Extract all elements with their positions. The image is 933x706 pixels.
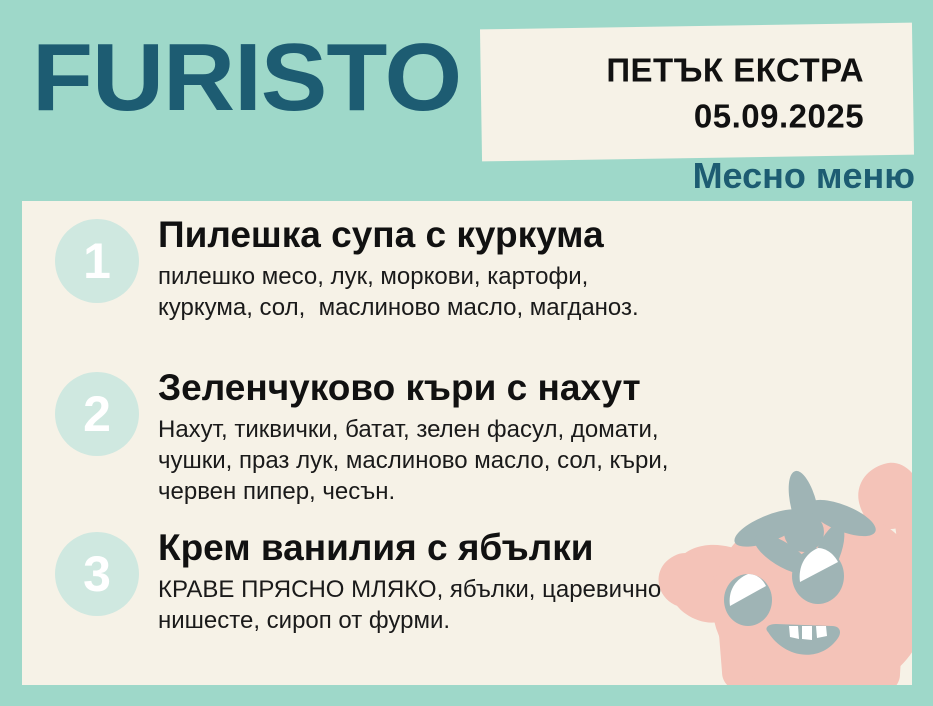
poster-header: FURISTO ПЕТЪК ЕКСТРА 05.09.2025 Месно ме… <box>0 0 933 200</box>
menu-item-number-badge: 3 <box>55 532 139 616</box>
date-badge-line-2: 05.09.2025 <box>607 93 865 139</box>
menu-item-body: Зеленчуково къри с нахут Нахут, тиквички… <box>158 366 898 507</box>
date-badge-text: ПЕТЪК ЕКСТРА 05.09.2025 <box>607 47 865 139</box>
menu-item-number-badge: 1 <box>55 219 139 303</box>
menu-item-description: Нахут, тиквички, батат, зелен фасул, дом… <box>158 414 898 507</box>
menu-poster: FURISTO ПЕТЪК ЕКСТРА 05.09.2025 Месно ме… <box>0 0 933 706</box>
menu-item-title: Зеленчуково къри с нахут <box>158 366 898 410</box>
menu-item-title: Крем ванилия с ябълки <box>158 526 898 570</box>
brand-logo: FURISTO <box>32 30 461 126</box>
menu-kind-label: Месно меню <box>693 156 915 196</box>
menu-item-number-badge: 2 <box>55 372 139 456</box>
menu-item-description: пилешко месо, лук, моркови, картофи, кур… <box>158 261 898 323</box>
menu-item-title: Пилешка супа с куркума <box>158 213 898 257</box>
date-badge-box: ПЕТЪК ЕКСТРА 05.09.2025 <box>480 23 914 162</box>
menu-card: 1 Пилешка супа с куркума пилешко месо, л… <box>22 201 912 685</box>
menu-item-description: КРАВЕ ПРЯСНО МЛЯКО, ябълки, царевично ни… <box>158 574 898 636</box>
menu-item-body: Крем ванилия с ябълки КРАВЕ ПРЯСНО МЛЯКО… <box>158 526 898 636</box>
menu-item-body: Пилешка супа с куркума пилешко месо, лук… <box>158 213 898 323</box>
date-badge-line-1: ПЕТЪК ЕКСТРА <box>607 47 865 93</box>
